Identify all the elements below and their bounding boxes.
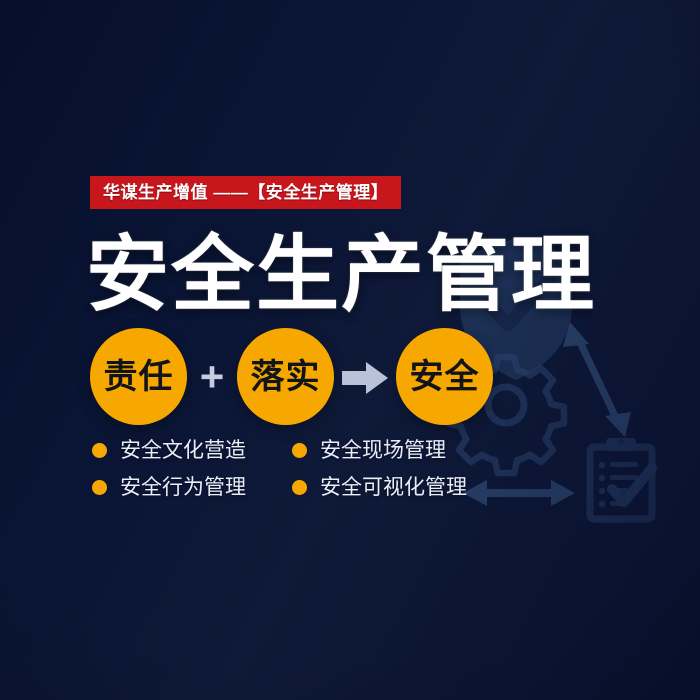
plus-sign: + xyxy=(187,356,237,398)
bullet-dot-icon xyxy=(292,443,307,458)
page-title: 安全生产管理 xyxy=(86,233,596,316)
keyword-label-safety: 安全 xyxy=(410,360,480,394)
list-item-label: 安全行为管理 xyxy=(120,477,246,498)
keyword-label-responsibility: 责任 xyxy=(104,360,174,394)
bullet-dot-icon xyxy=(92,443,107,458)
clipboard-checklist-icon xyxy=(590,438,652,519)
feature-bullet-list: 安全文化营造 安全现场管理 安全行为管理 安全可视化管理 xyxy=(92,440,492,498)
keyword-circle-implementation: 落实 xyxy=(237,328,334,425)
subtitle-banner: 华谋生产增值 ——【安全生产管理】 xyxy=(90,176,401,209)
list-item-label: 安全现场管理 xyxy=(320,440,446,461)
subtitle-banner-text: 华谋生产增值 ——【安全生产管理】 xyxy=(103,184,388,201)
list-item: 安全现场管理 xyxy=(292,440,492,461)
keyword-circle-responsibility: 责任 xyxy=(90,328,187,425)
keyword-formula-row: 责任 + 落实 安全 xyxy=(90,328,493,425)
list-item-label: 安全可视化管理 xyxy=(320,477,467,498)
list-item: 安全文化营造 xyxy=(92,440,292,461)
bullet-dot-icon xyxy=(292,480,307,495)
arrow-right-icon xyxy=(334,357,396,397)
list-item: 安全可视化管理 xyxy=(292,477,492,498)
double-arrow-diagonal-icon xyxy=(563,322,631,437)
poster-canvas: 华谋生产增值 ——【安全生产管理】 安全生产管理 责任 + 落实 安全 安全文化… xyxy=(0,0,700,700)
keyword-circle-safety: 安全 xyxy=(396,328,493,425)
keyword-label-implementation: 落实 xyxy=(251,360,321,394)
list-item-label: 安全文化营造 xyxy=(120,440,246,461)
bullet-dot-icon xyxy=(92,480,107,495)
list-item: 安全行为管理 xyxy=(92,477,292,498)
